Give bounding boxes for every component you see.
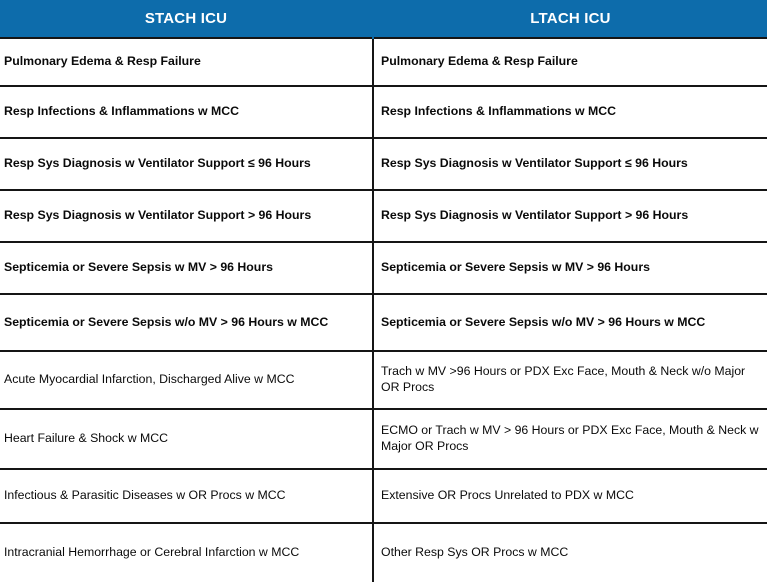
cell-stach: Resp Sys Diagnosis w Ventilator Support …	[0, 138, 373, 190]
cell-ltach: Resp Sys Diagnosis w Ventilator Support …	[373, 190, 767, 242]
cell-ltach: Septicemia or Severe Sepsis w MV > 96 Ho…	[373, 242, 767, 294]
table-row: Resp Sys Diagnosis w Ventilator Support …	[0, 138, 767, 190]
header-stach-icu: STACH ICU	[0, 0, 373, 38]
cell-text: Septicemia or Severe Sepsis w MV > 96 Ho…	[4, 260, 366, 276]
cell-text: Intracranial Hemorrhage or Cerebral Infa…	[4, 545, 366, 561]
cell-ltach: Resp Sys Diagnosis w Ventilator Support …	[373, 138, 767, 190]
cell-ltach: Extensive OR Procs Unrelated to PDX w MC…	[373, 469, 767, 523]
table-row: Acute Myocardial Infarction, Discharged …	[0, 351, 767, 409]
header-row: STACH ICU LTACH ICU	[0, 0, 767, 38]
table-body: Pulmonary Edema & Resp Failure Pulmonary…	[0, 38, 767, 582]
cell-stach: Acute Myocardial Infarction, Discharged …	[0, 351, 373, 409]
cell-text: Resp Infections & Inflammations w MCC	[381, 104, 761, 120]
cell-stach: Heart Failure & Shock w MCC	[0, 409, 373, 469]
table-header: STACH ICU LTACH ICU	[0, 0, 767, 38]
table-row: Septicemia or Severe Sepsis w MV > 96 Ho…	[0, 242, 767, 294]
cell-stach: Infectious & Parasitic Diseases w OR Pro…	[0, 469, 373, 523]
cell-text: Resp Sys Diagnosis w Ventilator Support …	[4, 156, 366, 172]
comparison-table-container: STACH ICU LTACH ICU Pulmonary Edema & Re…	[0, 0, 767, 503]
cell-text: Acute Myocardial Infarction, Discharged …	[4, 372, 366, 388]
cell-text: ECMO or Trach w MV > 96 Hours or PDX Exc…	[381, 423, 761, 454]
cell-text: Resp Sys Diagnosis w Ventilator Support …	[381, 156, 761, 172]
table-row: Pulmonary Edema & Resp Failure Pulmonary…	[0, 38, 767, 86]
cell-text: Resp Sys Diagnosis w Ventilator Support …	[4, 208, 366, 224]
table-row: Infectious & Parasitic Diseases w OR Pro…	[0, 469, 767, 523]
cell-text: Heart Failure & Shock w MCC	[4, 431, 366, 447]
cell-text: Pulmonary Edema & Resp Failure	[4, 54, 366, 70]
table-row: Heart Failure & Shock w MCC ECMO or Trac…	[0, 409, 767, 469]
cell-text: Resp Infections & Inflammations w MCC	[4, 104, 366, 120]
stach-ltach-comparison-table: STACH ICU LTACH ICU Pulmonary Edema & Re…	[0, 0, 767, 582]
cell-text: Trach w MV >96 Hours or PDX Exc Face, Mo…	[381, 364, 761, 395]
cell-text: Septicemia or Severe Sepsis w/o MV > 96 …	[4, 315, 366, 331]
cell-text: Other Resp Sys OR Procs w MCC	[381, 545, 761, 561]
cell-stach: Resp Sys Diagnosis w Ventilator Support …	[0, 190, 373, 242]
cell-text: Resp Sys Diagnosis w Ventilator Support …	[381, 208, 761, 224]
cell-stach: Septicemia or Severe Sepsis w/o MV > 96 …	[0, 294, 373, 351]
cell-stach: Septicemia or Severe Sepsis w MV > 96 Ho…	[0, 242, 373, 294]
header-ltach-icu: LTACH ICU	[373, 0, 767, 38]
table-row: Intracranial Hemorrhage or Cerebral Infa…	[0, 523, 767, 582]
cell-text: Infectious & Parasitic Diseases w OR Pro…	[4, 488, 366, 504]
cell-text: Extensive OR Procs Unrelated to PDX w MC…	[381, 488, 761, 504]
cell-ltach: Septicemia or Severe Sepsis w/o MV > 96 …	[373, 294, 767, 351]
cell-text: Pulmonary Edema & Resp Failure	[381, 54, 761, 70]
cell-stach: Intracranial Hemorrhage or Cerebral Infa…	[0, 523, 373, 582]
cell-stach: Resp Infections & Inflammations w MCC	[0, 86, 373, 138]
cell-ltach: Other Resp Sys OR Procs w MCC	[373, 523, 767, 582]
cell-ltach: Trach w MV >96 Hours or PDX Exc Face, Mo…	[373, 351, 767, 409]
table-row: Resp Infections & Inflammations w MCC Re…	[0, 86, 767, 138]
cell-text: Septicemia or Severe Sepsis w MV > 96 Ho…	[381, 260, 761, 276]
table-row: Septicemia or Severe Sepsis w/o MV > 96 …	[0, 294, 767, 351]
cell-stach: Pulmonary Edema & Resp Failure	[0, 38, 373, 86]
cell-ltach: Pulmonary Edema & Resp Failure	[373, 38, 767, 86]
cell-ltach: ECMO or Trach w MV > 96 Hours or PDX Exc…	[373, 409, 767, 469]
cell-text: Septicemia or Severe Sepsis w/o MV > 96 …	[381, 315, 761, 331]
table-row: Resp Sys Diagnosis w Ventilator Support …	[0, 190, 767, 242]
cell-ltach: Resp Infections & Inflammations w MCC	[373, 86, 767, 138]
